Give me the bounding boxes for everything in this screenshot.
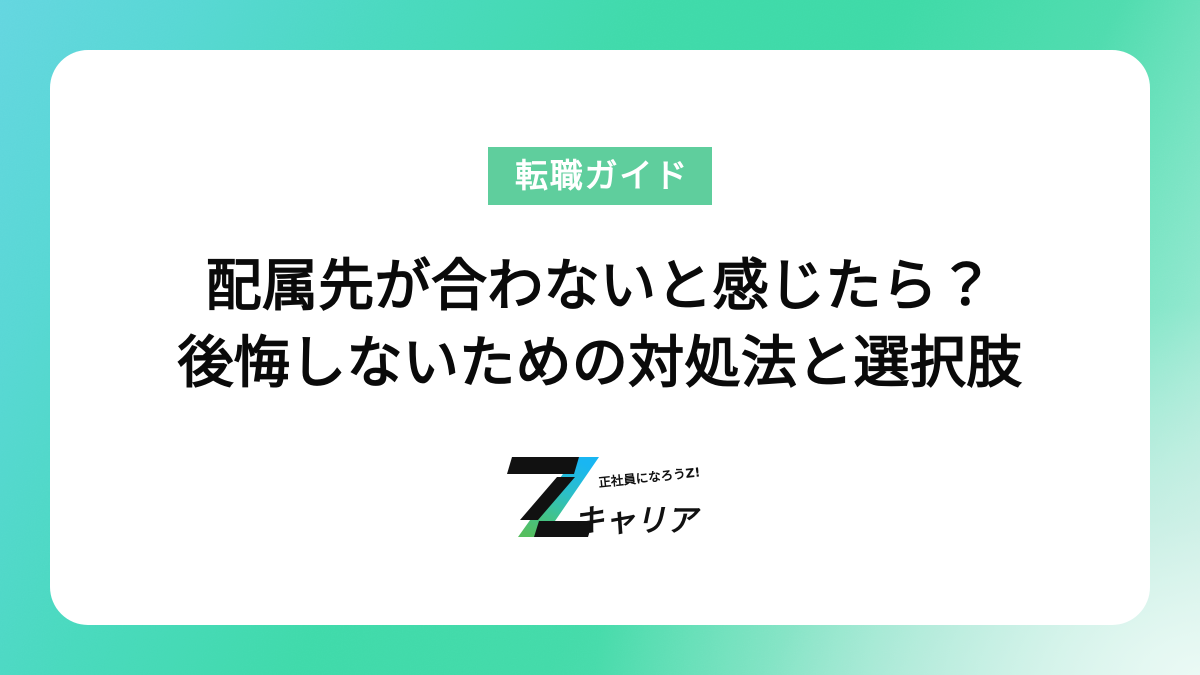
brand-logo: 正社員になろうZ! キャリア — [495, 454, 705, 540]
page-title-line-2: 後悔しないための対処法と選択肢 — [177, 326, 1022, 403]
og-image-canvas: 転職ガイド 配属先が合わないと感じたら？ 後悔しないための対処法と選択肢 — [0, 0, 1200, 675]
logo-wordmark-text: キャリア — [572, 504, 704, 540]
page-title: 配属先が合わないと感じたら？ 後悔しないための対処法と選択肢 — [177, 249, 1022, 402]
category-badge: 転職ガイド — [488, 147, 712, 205]
logo-tagline-text: 正社員になろうZ! — [598, 465, 701, 491]
page-title-line-1: 配属先が合わないと感じたら？ — [177, 249, 1022, 326]
content-card: 転職ガイド 配属先が合わないと感じたら？ 後悔しないための対処法と選択肢 — [50, 50, 1150, 625]
z-career-logo-icon: 正社員になろうZ! キャリア — [495, 454, 705, 540]
